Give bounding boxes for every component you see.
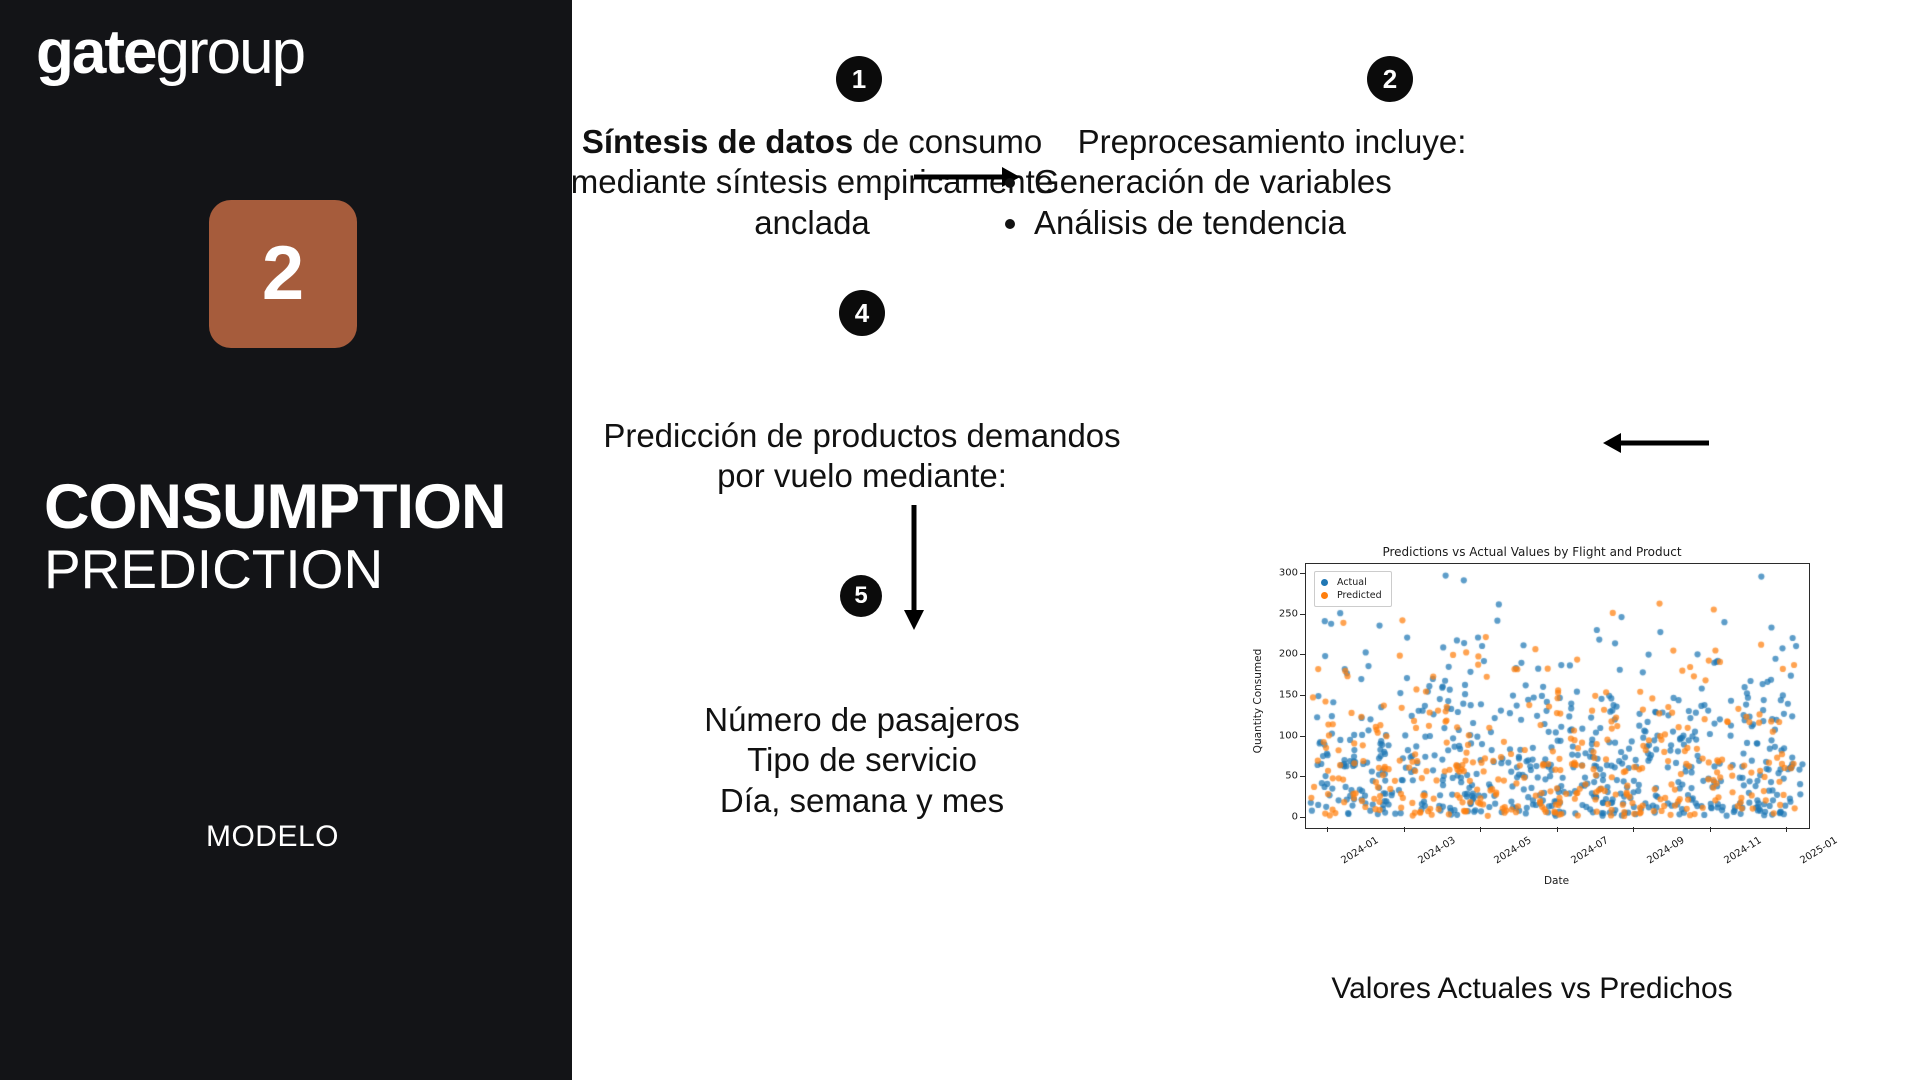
legend-entry-predicted: Predicted	[1321, 589, 1382, 602]
step-2-number: 2	[1383, 66, 1397, 92]
chart-ylabel: Quantity Consumed	[1252, 621, 1264, 781]
step-5-badge: 5	[840, 575, 882, 617]
step-5-number: 5	[854, 584, 867, 608]
sidebar-footer-label: MODELO	[0, 820, 545, 854]
chart-ytick-mark	[1300, 614, 1305, 615]
chart-xtick-mark	[1710, 827, 1711, 832]
legend-label-actual: Actual	[1337, 577, 1367, 588]
page-subtitle: PREDICTION	[44, 539, 534, 601]
chart-caption: Valores Actuales vs Predichos	[1232, 972, 1832, 1006]
chart-xlabel: Date	[1305, 875, 1808, 887]
sidebar-title-block: CONSUMPTION PREDICTION	[44, 475, 534, 601]
chart-xtick-mark	[1786, 827, 1787, 832]
chart-legend: Actual Predicted	[1314, 571, 1392, 607]
legend-entry-actual: Actual	[1321, 576, 1382, 589]
chart-ytick-mark	[1300, 573, 1305, 574]
logo-gate-text: gate	[36, 18, 155, 87]
chart-xtick-label: 2024-05	[1492, 835, 1533, 866]
main-content: 1 Síntesis de datos de consumo mediante …	[572, 0, 1920, 1080]
chart-ytick-label: 100	[1279, 730, 1298, 741]
step-4-number: 4	[855, 300, 869, 326]
chart-xtick-mark	[1480, 827, 1481, 832]
chart-xtick-label: 2024-07	[1569, 835, 1610, 866]
chart-xtick-mark	[1327, 827, 1328, 832]
chart-ytick-label: 0	[1292, 812, 1298, 823]
step-1-text-bold: Síntesis de datos	[582, 123, 853, 160]
step-5-text: Número de pasajeros Tipo de servicio Día…	[592, 700, 1132, 821]
chart-xtick-mark	[1557, 827, 1558, 832]
logo-group-text: group	[155, 18, 304, 87]
gategroup-logo: gategroup	[36, 22, 304, 84]
step-1-number: 1	[852, 66, 866, 92]
chart-ytick-label: 200	[1279, 649, 1298, 660]
chart-ytick-mark	[1300, 817, 1305, 818]
step-2-text: Preprocesamiento incluye: Generación de …	[992, 122, 1552, 243]
chart-ytick-label: 50	[1285, 771, 1298, 782]
sidebar: gategroup 2 CONSUMPTION PREDICTION MODEL…	[0, 0, 572, 1080]
section-number-label: 2	[262, 236, 304, 312]
chart-ytick-label: 300	[1279, 567, 1298, 578]
section-number-badge: 2	[209, 200, 357, 348]
chart-ytick-mark	[1300, 736, 1305, 737]
chart-ytick-label: 150	[1279, 690, 1298, 701]
step-2-bullet-item: Generación de variables	[1032, 162, 1552, 202]
step-4-badge: 4	[839, 290, 885, 336]
chart-xtick-label: 2024-01	[1339, 835, 1380, 866]
chart-xtick-mark	[1404, 827, 1405, 832]
step-5-line: Día, semana y mes	[592, 781, 1132, 821]
chart-xtick-mark	[1633, 827, 1634, 832]
chart-xtick-label: 2024-11	[1722, 835, 1763, 866]
chart-ytick-mark	[1300, 695, 1305, 696]
chart-ytick-mark	[1300, 776, 1305, 777]
legend-dot-actual-icon	[1321, 579, 1328, 586]
legend-label-predicted: Predicted	[1337, 590, 1382, 601]
step-5-line: Tipo de servicio	[592, 740, 1132, 780]
chart-ytick-label: 250	[1279, 608, 1298, 619]
step-3-text: Modelación con XGBoost	[1912, 416, 1920, 456]
step-5-line: Número de pasajeros	[592, 700, 1132, 740]
chart-xtick-label: 2024-09	[1645, 835, 1686, 866]
chart-ytick-mark	[1300, 654, 1305, 655]
step-4-text: Predicción de productos demandos por vue…	[592, 416, 1132, 497]
step-2-heading: Preprocesamiento incluye:	[992, 122, 1552, 162]
chart-title: Predictions vs Actual Values by Flight a…	[1232, 545, 1832, 559]
predictions-scatter-chart: Predictions vs Actual Values by Flight a…	[1232, 545, 1832, 895]
arrow-step3-to-step4-icon	[1603, 426, 1713, 460]
page-title: CONSUMPTION	[44, 475, 534, 539]
step-2-badge: 2	[1367, 56, 1413, 102]
step-2-bullet-item: Análisis de tendencia	[1032, 203, 1552, 243]
chart-plot-area: Actual Predicted	[1305, 563, 1810, 829]
step-1-badge: 1	[836, 56, 882, 102]
legend-dot-predicted-icon	[1321, 592, 1328, 599]
arrow-step4-to-step5-icon	[897, 505, 931, 630]
chart-xtick-label: 2024-03	[1416, 835, 1457, 866]
step-2-bullet-list: Generación de variables Análisis de tend…	[992, 162, 1552, 243]
